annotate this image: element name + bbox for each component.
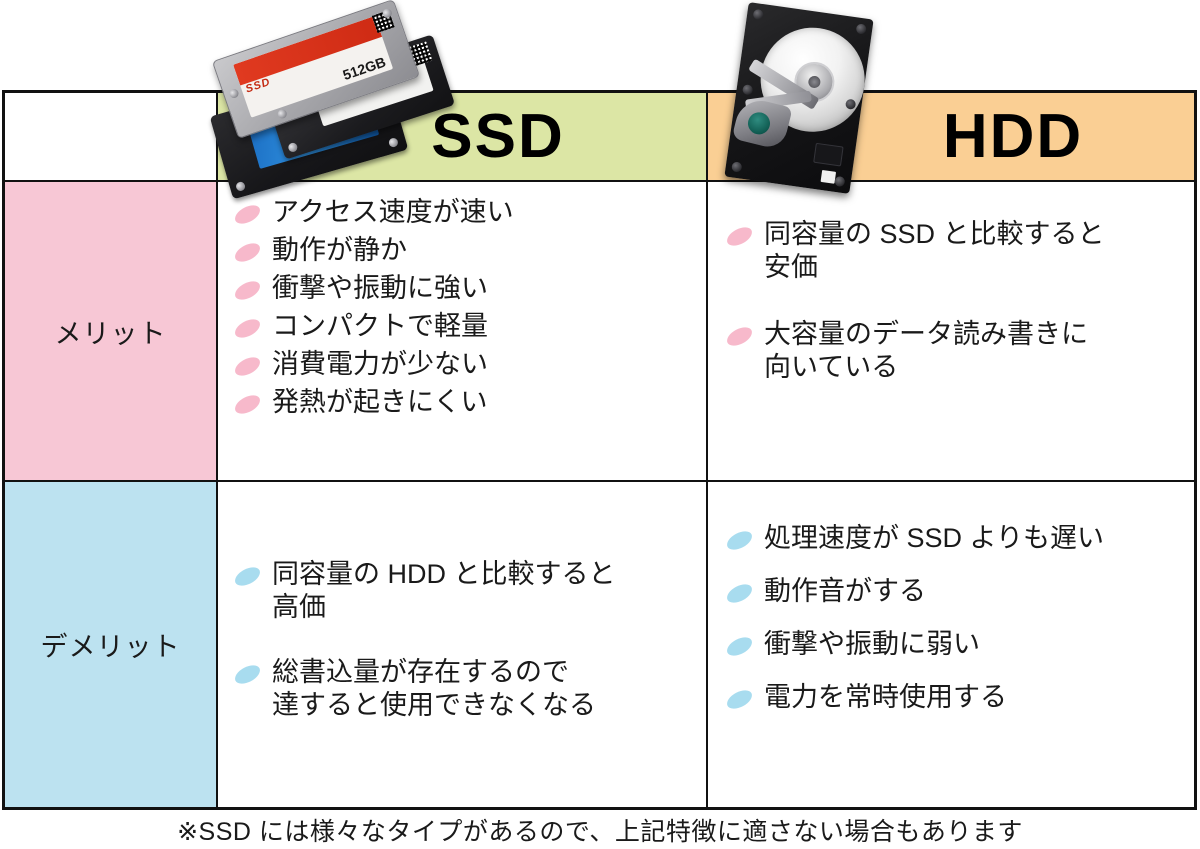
list-item: 同容量の HDD と比較すると 高価	[232, 558, 706, 624]
header-label-ssd: SSD	[431, 106, 564, 168]
list-item-text: 動作音がする	[764, 576, 926, 606]
screw-icon	[856, 23, 867, 34]
list-item: アクセス速度が速い	[232, 196, 706, 229]
list-item: コンパクトで軽量	[232, 310, 706, 343]
table-header-row: SSD HDD	[5, 93, 1194, 180]
list-item-text: アクセス速度が速い	[272, 197, 514, 227]
bullet-dot-icon	[232, 202, 263, 228]
screw-icon	[742, 84, 753, 95]
bullet-dot-icon	[232, 391, 263, 417]
screw-icon	[753, 9, 764, 20]
screw-icon	[834, 176, 845, 187]
footnote-text: ※SSD には様々なタイプがあるので、上記特徴に適さない場合もあります	[0, 812, 1200, 848]
screw-icon	[731, 161, 742, 172]
list-item-text: 発熱が起きにくい	[272, 387, 487, 417]
list-item-text: 処理速度が SSD よりも遅い	[764, 523, 1104, 553]
bullet-dot-icon	[724, 633, 755, 659]
screw-icon	[228, 88, 239, 99]
cell-ssd-demerit: 同容量の HDD と比較すると 高価 総書込量が存在するので 達すると使用できな…	[218, 482, 706, 807]
list-item: 動作音がする	[724, 575, 1194, 608]
bullet-list-ssd-merit: アクセス速度が速い 動作が静か 衝撃や振動に強い コンパクトで軽量 消費電力が少…	[232, 196, 706, 419]
header-corner-cell	[5, 93, 216, 180]
bullet-dot-icon	[232, 564, 263, 590]
bullet-dot-icon	[232, 277, 263, 303]
row-label-merit: メリット	[5, 182, 216, 480]
list-item-text: 総書込量が存在するので 達すると使用できなくなる	[272, 657, 596, 720]
bullet-dot-icon	[232, 353, 263, 379]
list-item-text: 電力を常時使用する	[764, 682, 1007, 712]
bullet-dot-icon	[724, 224, 755, 250]
bullet-dot-icon	[232, 661, 263, 687]
list-item: 総書込量が存在するので 達すると使用できなくなる	[232, 656, 706, 722]
screw-icon	[388, 137, 399, 148]
list-item: 同容量の SSD と比較すると 安価	[724, 218, 1194, 284]
list-item: 大容量のデータ読み書きに 向いている	[724, 318, 1194, 384]
header-divider	[5, 180, 1194, 182]
bullet-list-hdd-demerit: 処理速度が SSD よりも遅い 動作音がする 衝撃や振動に弱い 電力を常時使用す…	[724, 522, 1194, 714]
screw-icon	[277, 108, 288, 119]
hdd-controller-chip	[813, 143, 844, 167]
header-label-hdd: HDD	[943, 106, 1083, 168]
list-item-text: 同容量の SSD と比較すると 安価	[764, 219, 1105, 282]
bullet-dot-icon	[724, 580, 755, 606]
hdd-chassis	[724, 2, 873, 194]
list-item-text: 大容量のデータ読み書きに 向いている	[764, 319, 1088, 382]
ssd-brand-text: SSD	[244, 76, 272, 96]
list-item: 衝撃や振動に強い	[232, 272, 706, 305]
list-item: 衝撃や振動に弱い	[724, 628, 1194, 661]
row-divider	[5, 480, 1194, 482]
list-item: 処理速度が SSD よりも遅い	[724, 522, 1194, 555]
hdd-drive-photo	[722, 4, 880, 194]
list-item-text: 同容量の HDD と比較すると 高価	[272, 559, 616, 622]
list-item-text: 動作が静か	[272, 235, 407, 265]
bullet-dot-icon	[232, 239, 263, 265]
ssd-hdd-comparison-table: SSD HDD メリット デメリット アクセス速度が速い 動作が静か 衝撃や振動…	[2, 90, 1197, 810]
list-item-text: 衝撃や振動に強い	[272, 273, 488, 303]
ssd-stack-photo: SSD 512GB	[208, 18, 428, 190]
bullet-dot-icon	[724, 323, 755, 349]
bullet-dot-icon	[232, 315, 263, 341]
cell-ssd-merit: アクセス速度が速い 動作が静か 衝撃や振動に強い コンパクトで軽量 消費電力が少…	[218, 182, 706, 480]
comparison-infographic: SSD HDD メリット デメリット アクセス速度が速い 動作が静か 衝撃や振動…	[0, 0, 1200, 849]
cell-hdd-merit: 同容量の SSD と比較すると 安価 大容量のデータ読み書きに 向いている	[708, 182, 1194, 480]
list-item-text: 消費電力が少ない	[272, 349, 488, 379]
bullet-dot-icon	[724, 528, 755, 554]
list-item: 電力を常時使用する	[724, 681, 1194, 714]
column-divider-2	[706, 93, 708, 807]
ssd-capacity-text: 512GB	[341, 53, 388, 83]
list-item: 発熱が起きにくい	[232, 386, 706, 419]
cell-hdd-demerit: 処理速度が SSD よりも遅い 動作音がする 衝撃や振動に弱い 電力を常時使用す…	[708, 482, 1194, 807]
list-item-text: コンパクトで軽量	[272, 311, 488, 341]
list-item: 動作が静か	[232, 234, 706, 267]
screw-icon	[235, 181, 246, 192]
bullet-list-ssd-demerit: 同容量の HDD と比較すると 高価 総書込量が存在するので 達すると使用できな…	[232, 558, 706, 722]
row-label-demerit: デメリット	[5, 482, 216, 807]
screw-icon	[287, 142, 298, 153]
list-item: 消費電力が少ない	[232, 348, 706, 381]
column-divider-1	[216, 93, 218, 807]
bullet-list-hdd-merit: 同容量の SSD と比較すると 安価 大容量のデータ読み書きに 向いている	[724, 218, 1194, 384]
bullet-dot-icon	[724, 686, 755, 712]
list-item-text: 衝撃や振動に弱い	[764, 629, 980, 659]
